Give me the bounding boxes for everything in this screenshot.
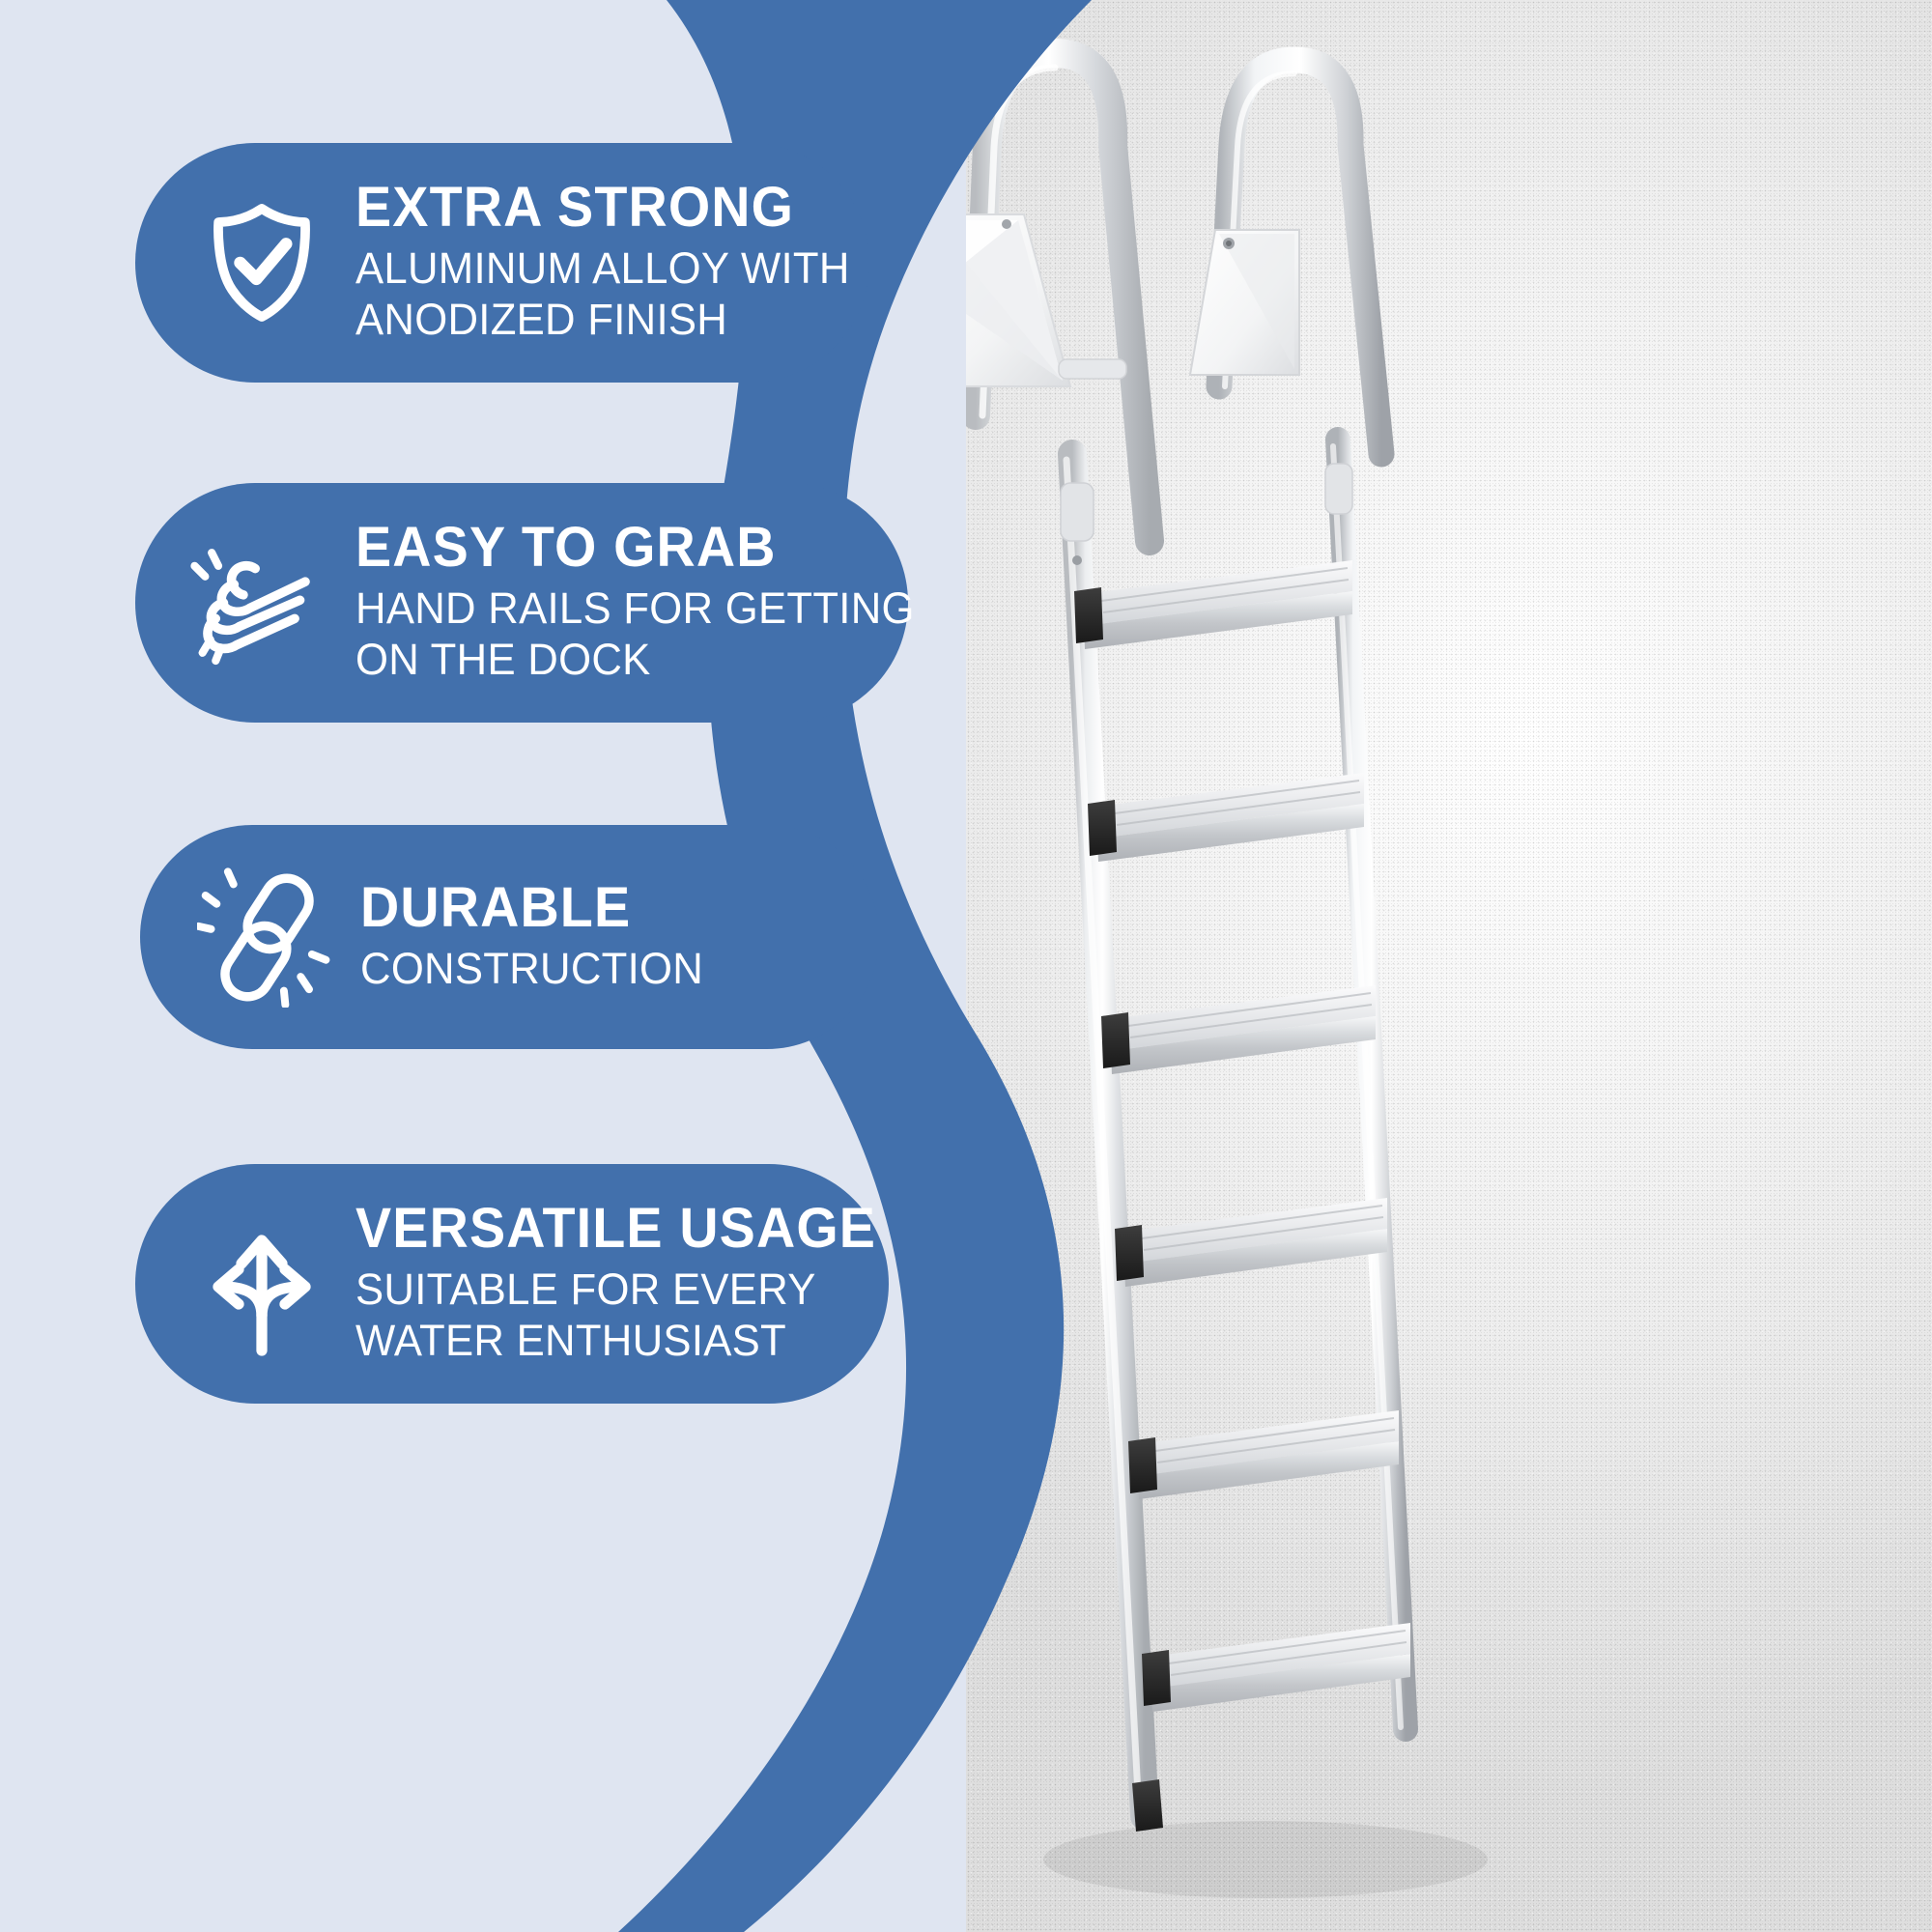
mounting-bracket-rear	[1190, 230, 1299, 375]
feature-headline: EXTRA STRONG	[355, 180, 844, 236]
feature-subline: SUITABLE FOR EVERY WATER ENTHUSIAST	[355, 1264, 882, 1366]
chain-link-icon	[194, 865, 339, 1009]
feature-headline: EASY TO GRAB	[355, 520, 909, 576]
ladder-step	[1088, 773, 1364, 862]
feature-subline: CONSTRUCTION	[360, 944, 703, 995]
ladder-step	[1101, 985, 1376, 1074]
feature-subline: ALUMINUM ALLOY WITH ANODIZED FINISH	[355, 243, 850, 345]
feature-subline-line: ALUMINUM ALLOY WITH	[355, 243, 850, 295]
ladder-step	[1115, 1198, 1387, 1287]
hand-grab-icon	[189, 530, 334, 675]
dock-ladder-illustration	[966, 0, 1932, 1932]
feature-headline: DURABLE	[360, 880, 699, 936]
feature-subline: HAND RAILS FOR GETTING ON THE DOCK	[355, 583, 915, 685]
feature-card-versatile-usage[interactable]: VERSATILE USAGE SUITABLE FOR EVERY WATER…	[135, 1164, 889, 1404]
feature-subline-line: SUITABLE FOR EVERY	[355, 1264, 882, 1316]
ladder-step	[1074, 560, 1352, 649]
feature-subline-line: ANODIZED FINISH	[355, 295, 850, 346]
feature-card-list: EXTRA STRONG ALUMINUM ALLOY WITH ANODIZE…	[0, 0, 976, 1932]
mounting-bracket-front	[966, 214, 1126, 386]
ladder-side-rails	[1061, 440, 1406, 1816]
multi-direction-arrows-icon	[189, 1211, 334, 1356]
feature-card-extra-strong[interactable]: EXTRA STRONG ALUMINUM ALLOY WITH ANODIZE…	[135, 143, 869, 383]
feature-headline: VERSATILE USAGE	[355, 1201, 876, 1257]
feature-subline-line: ON THE DOCK	[355, 635, 915, 686]
feature-card-durable[interactable]: DURABLE CONSTRUCTION	[140, 825, 879, 1049]
infographic-canvas: EXTRA STRONG ALUMINUM ALLOY WITH ANODIZE…	[0, 0, 1932, 1932]
feature-card-easy-to-grab[interactable]: EASY TO GRAB HAND RAILS FOR GETTING ON T…	[135, 483, 908, 723]
feature-subline-line: WATER ENTHUSIAST	[355, 1316, 882, 1367]
shield-check-icon	[189, 190, 334, 335]
ladder-step	[1142, 1623, 1410, 1712]
feature-subline-line: HAND RAILS FOR GETTING	[355, 583, 915, 635]
feature-subline-line: CONSTRUCTION	[360, 944, 703, 995]
ladder-step	[1128, 1410, 1399, 1499]
product-photo-panel	[966, 0, 1932, 1932]
rail-foot-cap	[1132, 1779, 1163, 1832]
